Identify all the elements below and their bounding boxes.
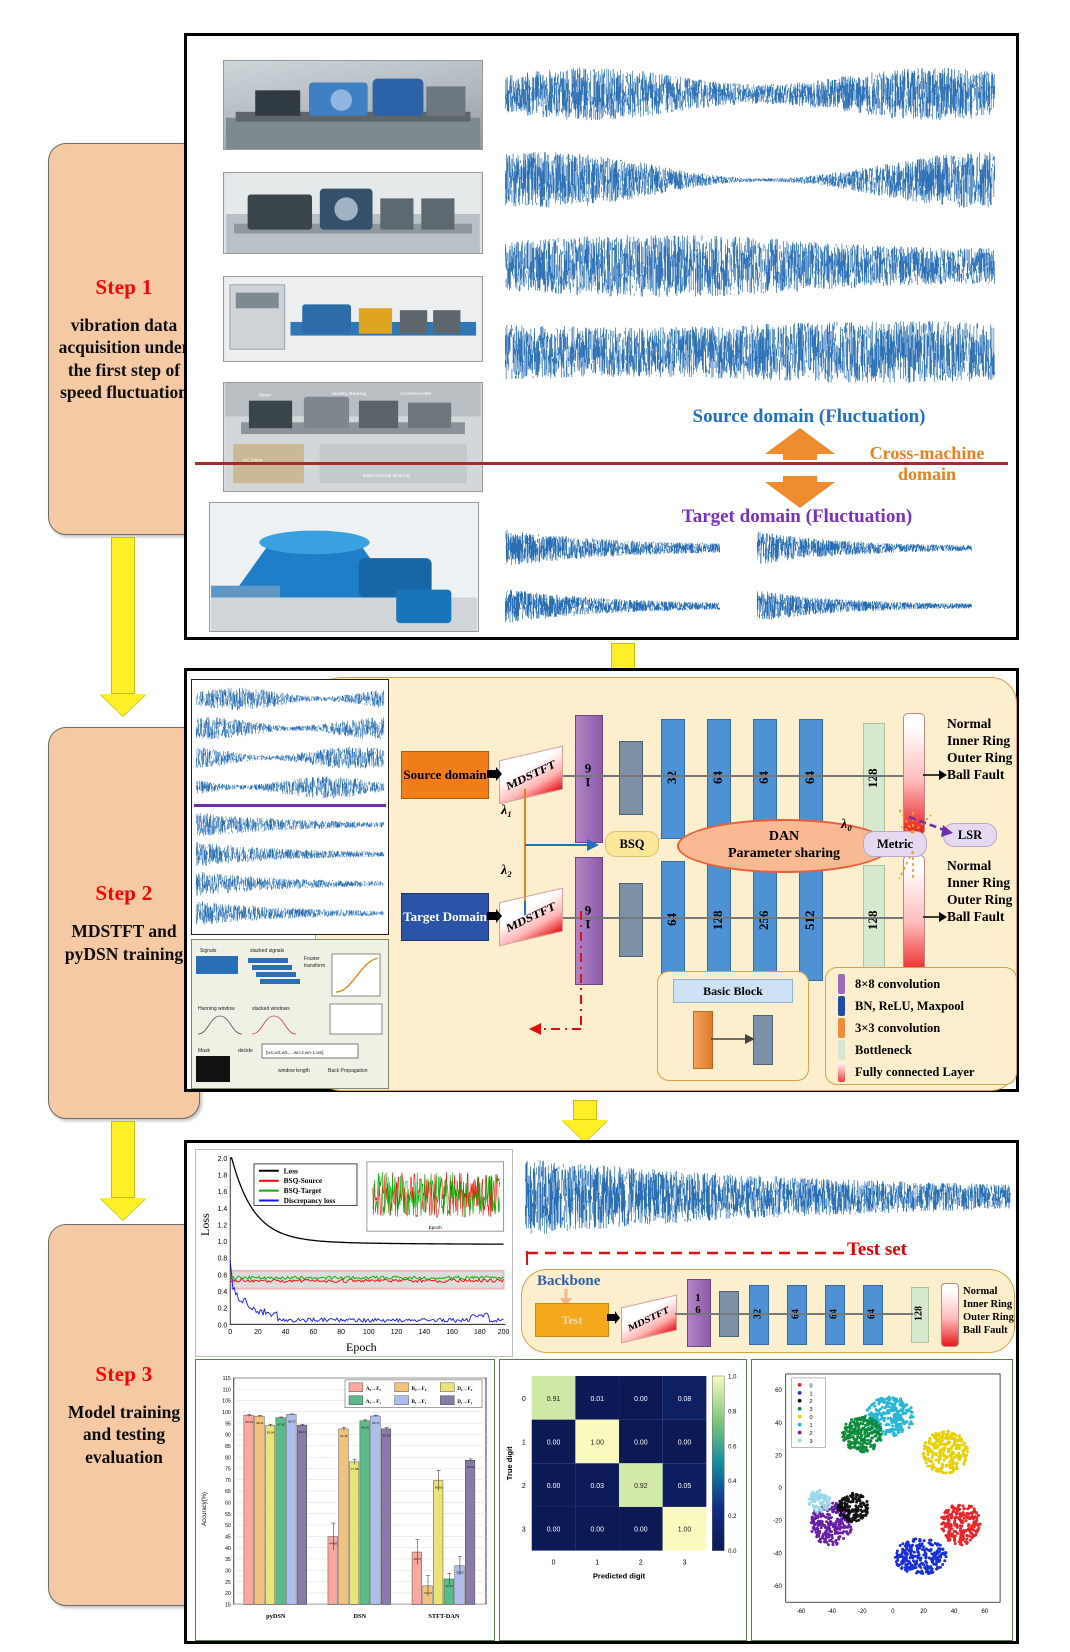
svg-text:44.86: 44.86 xyxy=(329,1542,337,1546)
svg-text:-60: -60 xyxy=(797,1609,806,1615)
svg-text:96.06: 96.06 xyxy=(361,1426,369,1430)
step-1-subtitle: vibration data acquisition under the fir… xyxy=(49,314,199,404)
step-2-subtitle: MDSTFT and pyDSN training xyxy=(49,920,199,965)
svg-text:180: 180 xyxy=(474,1329,486,1336)
test-rig-photo-4: Motor Healthy Bearing Accelerometer AC D… xyxy=(223,382,483,492)
target-machine-photo xyxy=(209,502,479,632)
svg-text:0.00: 0.00 xyxy=(634,1439,648,1446)
svg-text:0.8: 0.8 xyxy=(728,1409,737,1415)
stack-divider xyxy=(194,804,386,807)
source-arrow-icon xyxy=(487,767,503,783)
lambda-2-label: λ₂ xyxy=(501,863,512,879)
svg-text:105: 105 xyxy=(222,1399,231,1405)
test-flow-line xyxy=(675,1313,913,1315)
svg-text:94.13: 94.13 xyxy=(299,1430,307,1434)
svg-text:True digit: True digit xyxy=(505,1446,514,1480)
test-fc-layer xyxy=(941,1283,959,1347)
legend-item-4: Fully connected Layer xyxy=(838,1062,974,1082)
step-1-pill: Step 1 vibration data acquisition under … xyxy=(48,143,200,535)
conv8x8-swatch-icon xyxy=(838,974,845,994)
target-flow-line xyxy=(563,917,903,919)
input-signals-box xyxy=(191,679,389,935)
svg-text:15: 15 xyxy=(225,1602,231,1608)
svg-text:Accelerometer: Accelerometer xyxy=(400,391,432,397)
svg-text:98.46: 98.46 xyxy=(245,1420,253,1424)
svg-text:0.91: 0.91 xyxy=(547,1396,561,1403)
svg-text:98.87: 98.87 xyxy=(288,1419,296,1423)
svg-text:0: 0 xyxy=(778,1486,782,1492)
svg-text:0.8: 0.8 xyxy=(218,1256,228,1263)
target-block-256-label: 256 xyxy=(753,861,775,979)
svg-text:Predicted digit: Predicted digit xyxy=(593,1571,646,1580)
svg-text:A₀→F₀: A₀→F₀ xyxy=(366,1386,382,1392)
svg-text:0.08: 0.08 xyxy=(678,1396,692,1403)
source-domain-box: Source domain xyxy=(401,751,489,799)
svg-text:40: 40 xyxy=(951,1609,958,1615)
svg-text:77.88: 77.88 xyxy=(351,1467,359,1471)
svg-text:140: 140 xyxy=(419,1329,431,1336)
svg-text:1: 1 xyxy=(522,1439,526,1446)
svg-text:100: 100 xyxy=(363,1329,375,1336)
svg-text:92.50: 92.50 xyxy=(383,1434,391,1438)
svg-text:DSN: DSN xyxy=(354,1613,367,1620)
target-block-64-label: 64 xyxy=(661,861,683,979)
svg-text:Motor: Motor xyxy=(259,393,272,399)
step-2-title: Step 2 xyxy=(95,881,152,906)
source-signal-1 xyxy=(505,58,995,130)
svg-text:pyDSN: pyDSN xyxy=(266,1613,286,1620)
svg-text:60: 60 xyxy=(775,1388,782,1394)
test-rig-photo-2 xyxy=(223,172,483,254)
bsq-node: BSQ xyxy=(605,831,659,857)
test-rig-photo-3 xyxy=(223,276,483,362)
source-signal-stack xyxy=(196,684,384,802)
svg-text:0.03: 0.03 xyxy=(590,1483,604,1490)
step2-legend: 8×8 convolution BN, ReLU, Maxpool 3×3 co… xyxy=(825,967,1017,1085)
svg-text:100: 100 xyxy=(222,1410,231,1416)
svg-text:B₀→F₀: B₀→F₀ xyxy=(412,1386,427,1392)
svg-text:-40: -40 xyxy=(773,1551,782,1557)
svg-text:1.6: 1.6 xyxy=(218,1189,228,1196)
svg-text:92.46: 92.46 xyxy=(340,1434,348,1438)
svg-text:93.96: 93.96 xyxy=(267,1430,275,1434)
svg-text:3: 3 xyxy=(810,1439,813,1445)
svg-text:Experimental Bearing: Experimental Bearing xyxy=(363,473,410,479)
source-signal-3 xyxy=(505,230,995,302)
svg-text:1: 1 xyxy=(810,1423,813,1429)
svg-text:160: 160 xyxy=(446,1329,458,1336)
target-domain-label: Target domain (Fluctuation) xyxy=(587,506,1007,528)
svg-text:0: 0 xyxy=(891,1609,895,1615)
step3-panel: Loss Epoch 2.01.81.6 1.41.21.0 0.80.60.4… xyxy=(184,1140,1019,1644)
svg-text:110: 110 xyxy=(223,1387,231,1393)
poster-root: Step 1 vibration data acquisition under … xyxy=(0,0,1070,1652)
step1-panel: Motor Healthy Bearing Accelerometer AC D… xyxy=(184,33,1019,640)
svg-text:1.00: 1.00 xyxy=(678,1527,692,1534)
svg-text:0.00: 0.00 xyxy=(547,1527,561,1534)
test-output-classes: Normal Inner Ring Outer Ring Ball Fault xyxy=(963,1285,1014,1337)
svg-text:70: 70 xyxy=(225,1478,231,1484)
svg-text:40: 40 xyxy=(775,1421,782,1427)
svg-text:98.11: 98.11 xyxy=(256,1421,264,1425)
source-signal-4 xyxy=(505,316,995,388)
svg-text:0.4: 0.4 xyxy=(728,1479,737,1485)
svg-text:0.2: 0.2 xyxy=(218,1306,228,1313)
svg-text:0.4: 0.4 xyxy=(218,1289,228,1296)
svg-text:0: 0 xyxy=(522,1396,526,1403)
cross-machine-arrow xyxy=(757,428,843,508)
svg-text:0.01: 0.01 xyxy=(590,1396,604,1403)
test-set-label: Test set xyxy=(847,1239,907,1261)
svg-text:98.17: 98.17 xyxy=(372,1421,380,1425)
flow-arrow-step2-step3 xyxy=(100,1121,146,1220)
target-signal-3 xyxy=(505,586,720,626)
svg-text:97.42: 97.42 xyxy=(277,1423,285,1427)
svg-text:55: 55 xyxy=(225,1512,231,1518)
svg-text:-40: -40 xyxy=(827,1609,836,1615)
svg-text:30: 30 xyxy=(225,1568,231,1574)
svg-text:decide: decide xyxy=(238,1048,253,1054)
test-rig-photo-1 xyxy=(223,60,483,150)
confusion-matrix-chart: 0.910.010.000.080.001.000.000.000.000.03… xyxy=(499,1359,747,1641)
svg-text:38.07: 38.07 xyxy=(414,1557,422,1561)
svg-text:26.16: 26.16 xyxy=(445,1584,453,1588)
source-block-64a-label: 64 xyxy=(707,719,729,837)
svg-text:20: 20 xyxy=(225,1591,231,1597)
target-block-512-label: 512 xyxy=(799,861,821,979)
svg-text:Mask: Mask xyxy=(198,1048,210,1054)
svg-text:0.6: 0.6 xyxy=(218,1272,228,1279)
test-arrow-icon xyxy=(607,1311,621,1325)
svg-text:BSQ-Target: BSQ-Target xyxy=(284,1186,322,1195)
source-flow-line xyxy=(563,775,903,777)
svg-text:20: 20 xyxy=(920,1609,927,1615)
fc-swatch-icon xyxy=(838,1062,845,1082)
svg-text:78.60: 78.60 xyxy=(467,1465,475,1469)
svg-text:120: 120 xyxy=(391,1329,403,1336)
svg-text:STFT-DAN: STFT-DAN xyxy=(428,1613,460,1620)
svg-text:80: 80 xyxy=(225,1455,231,1461)
svg-text:0.00: 0.00 xyxy=(547,1439,561,1446)
svg-text:1.00: 1.00 xyxy=(590,1439,604,1446)
target-block-128-label: 128 xyxy=(707,861,729,979)
target-arrow-icon xyxy=(487,909,503,925)
svg-text:BSQ-Source: BSQ-Source xyxy=(284,1176,323,1185)
svg-text:2: 2 xyxy=(522,1483,526,1490)
step-3-pill: Step 3 Model training and testing evalua… xyxy=(48,1224,200,1606)
svg-text:45: 45 xyxy=(225,1535,231,1541)
lambda-0-label: λ₀ xyxy=(841,817,852,833)
svg-text:3: 3 xyxy=(683,1559,687,1566)
step-3-subtitle: Model training and testing evaluation xyxy=(49,1401,199,1468)
svg-text:D₁→F₁: D₁→F₁ xyxy=(457,1399,473,1405)
svg-text:0: 0 xyxy=(552,1559,556,1566)
svg-text:0.00: 0.00 xyxy=(634,1396,648,1403)
svg-text:transform: transform xyxy=(304,963,325,969)
svg-text:Hanning window: Hanning window xyxy=(198,1006,235,1012)
basic-block-arrow xyxy=(711,1031,757,1047)
svg-text:D₀→F₀: D₀→F₀ xyxy=(457,1386,473,1392)
source-block-32-label: 32 xyxy=(661,719,683,837)
svg-text:0: 0 xyxy=(810,1383,813,1389)
svg-text:95: 95 xyxy=(225,1421,231,1427)
svg-text:-20: -20 xyxy=(858,1609,867,1615)
target-signal-2 xyxy=(757,528,972,568)
svg-text:Accuracy(%): Accuracy(%) xyxy=(202,1492,208,1526)
svg-text:1.2: 1.2 xyxy=(218,1222,228,1229)
conv3x3-swatch-icon xyxy=(838,1018,845,1038)
backprop-arrow xyxy=(525,911,599,1051)
svg-text:85: 85 xyxy=(225,1444,231,1450)
svg-text:0.00: 0.00 xyxy=(678,1439,692,1446)
svg-text:35: 35 xyxy=(225,1557,231,1563)
svg-text:32.02: 32.02 xyxy=(456,1571,464,1575)
source-signal-2 xyxy=(505,144,995,216)
svg-text:25: 25 xyxy=(225,1580,231,1586)
svg-text:[w1,w2,w3,...,wn-2,wn-1,wn]: [w1,w2,w3,...,wn-2,wn-1,wn] xyxy=(266,1050,323,1055)
source-output-classes: Normal Inner Ring Outer Ring Ball Fault xyxy=(947,715,1012,784)
svg-text:1: 1 xyxy=(595,1559,599,1566)
svg-text:0.00: 0.00 xyxy=(590,1527,604,1534)
svg-text:0.92: 0.92 xyxy=(634,1483,648,1490)
svg-text:65: 65 xyxy=(225,1489,231,1495)
step-2-pill: Step 2 MDSTFT and pyDSN training xyxy=(48,727,200,1119)
svg-text:stacked windows: stacked windows xyxy=(252,1006,290,1012)
svg-text:75: 75 xyxy=(225,1467,231,1473)
svg-text:60: 60 xyxy=(225,1501,231,1507)
svg-text:200: 200 xyxy=(498,1329,510,1336)
svg-text:23.13: 23.13 xyxy=(424,1591,432,1595)
svg-text:B₁→F₁: B₁→F₁ xyxy=(412,1399,427,1405)
accuracy-bar-chart: 1520253035404550556065707580859095100105… xyxy=(195,1359,495,1641)
step-1-title: Step 1 xyxy=(95,275,152,300)
step-3-title: Step 3 xyxy=(95,1362,152,1387)
svg-text:0: 0 xyxy=(228,1329,232,1336)
mdstft-inset: Signals stacked signals Fourier transfor… xyxy=(191,939,389,1089)
metric-connectors xyxy=(855,791,1005,917)
svg-text:Healthy Bearing: Healthy Bearing xyxy=(331,391,366,397)
svg-text:-20: -20 xyxy=(773,1519,782,1525)
svg-text:0.0: 0.0 xyxy=(728,1549,737,1555)
svg-text:2: 2 xyxy=(810,1431,813,1437)
svg-text:20: 20 xyxy=(775,1453,782,1459)
basic-block-conv3x3 xyxy=(693,1011,713,1069)
svg-text:1.8: 1.8 xyxy=(218,1173,228,1180)
svg-text:1: 1 xyxy=(810,1391,813,1397)
svg-text:0.00: 0.00 xyxy=(634,1527,648,1534)
svg-text:2.0: 2.0 xyxy=(218,1156,228,1163)
legend-item-1: BN, ReLU, Maxpool xyxy=(838,996,964,1016)
target-signal-1 xyxy=(505,528,720,568)
svg-text:Loss: Loss xyxy=(284,1166,298,1175)
svg-text:0.6: 0.6 xyxy=(728,1444,737,1450)
svg-text:0.0: 0.0 xyxy=(218,1322,228,1329)
tsne-scatter-chart: -60-40-200204060-60-40-20020406001230123 xyxy=(751,1359,1013,1641)
test-bottleneck-128-label: 128 xyxy=(911,1287,927,1341)
svg-text:1.4: 1.4 xyxy=(218,1206,228,1213)
test-box: Test xyxy=(535,1303,609,1337)
target-signal-stack xyxy=(196,810,384,928)
svg-text:60: 60 xyxy=(310,1329,318,1336)
legend-item-2: 3×3 convolution xyxy=(838,1018,940,1038)
svg-text:window length: window length xyxy=(278,1068,310,1074)
svg-text:3: 3 xyxy=(810,1407,813,1413)
svg-text:0.05: 0.05 xyxy=(678,1483,692,1490)
svg-text:1.0: 1.0 xyxy=(728,1374,737,1380)
source-domain-label: Source domain (Fluctuation) xyxy=(619,406,999,428)
svg-text:40: 40 xyxy=(282,1329,290,1336)
svg-text:Back Propagation: Back Propagation xyxy=(328,1068,368,1074)
svg-text:Fourier: Fourier xyxy=(304,956,320,962)
cross-machine-label: Cross-machine domain xyxy=(847,443,1007,485)
legend-item-0: 8×8 convolution xyxy=(838,974,940,994)
legend-item-3: Bottleneck xyxy=(838,1040,912,1060)
svg-text:0: 0 xyxy=(810,1415,813,1421)
svg-text:115: 115 xyxy=(223,1376,231,1382)
svg-text:2: 2 xyxy=(810,1399,813,1405)
svg-text:0.2: 0.2 xyxy=(728,1514,736,1520)
test-set-dashed-line xyxy=(523,1247,853,1269)
svg-text:50: 50 xyxy=(225,1523,231,1529)
target-signal-4 xyxy=(757,586,972,626)
bottleneck-swatch-icon xyxy=(838,1040,845,1060)
svg-text:-60: -60 xyxy=(773,1584,782,1590)
source-output-arrow xyxy=(923,767,947,783)
svg-text:stacked signals: stacked signals xyxy=(250,948,285,954)
backbone-label: Backbone xyxy=(537,1273,600,1290)
svg-text:40: 40 xyxy=(225,1546,231,1552)
test-signals xyxy=(525,1151,1011,1243)
svg-text:0.00: 0.00 xyxy=(547,1483,561,1490)
bn-relu-swatch-icon xyxy=(838,996,845,1016)
lambda-1-label: λ₁ xyxy=(501,803,512,819)
loss-curve-chart: Loss Epoch 2.01.81.6 1.41.21.0 0.80.60.4… xyxy=(195,1149,513,1357)
svg-text:3: 3 xyxy=(522,1527,526,1534)
svg-text:90: 90 xyxy=(225,1433,231,1439)
svg-text:Signals: Signals xyxy=(200,948,217,954)
basic-block-title: Basic Block xyxy=(673,979,793,1003)
flow-arrow-panel2-panel3 xyxy=(562,1100,608,1142)
svg-text:Discrepancy loss: Discrepancy loss xyxy=(284,1196,336,1205)
svg-text:1.0: 1.0 xyxy=(218,1239,228,1246)
target-domain-box: Target Domain xyxy=(401,893,489,941)
svg-text:2: 2 xyxy=(639,1559,643,1566)
step2-panel: Signals stacked signals Fourier transfor… xyxy=(184,668,1019,1092)
svg-text:Epoch: Epoch xyxy=(429,1225,442,1230)
svg-text:A₁→F₁: A₁→F₁ xyxy=(366,1399,382,1405)
svg-text:60: 60 xyxy=(981,1609,988,1615)
svg-text:20: 20 xyxy=(254,1329,262,1336)
flow-arrow-step1-step2 xyxy=(100,537,146,716)
svg-text:69.66: 69.66 xyxy=(435,1485,443,1489)
svg-text:80: 80 xyxy=(337,1329,345,1336)
